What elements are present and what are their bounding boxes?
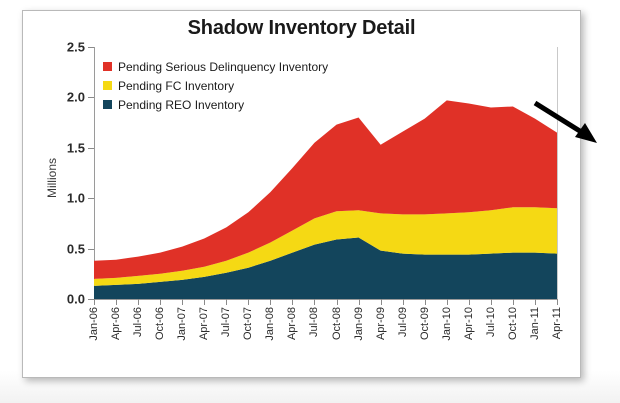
x-tick-label: Jul-10	[485, 307, 497, 337]
x-tick-mark	[314, 299, 315, 305]
x-tick-label: Jan-10	[441, 307, 453, 341]
legend-swatch-icon	[103, 62, 112, 71]
plot-right-edge	[557, 47, 558, 299]
x-tick-label: Apr-11	[551, 307, 563, 339]
x-axis-line	[94, 299, 558, 300]
x-tick-mark	[226, 299, 227, 305]
x-tick-mark	[403, 299, 404, 305]
x-tick-mark	[447, 299, 448, 305]
y-tick-mark	[88, 97, 94, 98]
x-tick-label: Oct-10	[507, 307, 519, 340]
chart-legend: Pending Serious Delinquency InventoryPen…	[103, 59, 328, 116]
y-tick-label: 0.5	[45, 241, 85, 256]
x-tick-label: Jul-08	[308, 307, 320, 337]
x-tick-label: Jul-06	[132, 307, 144, 337]
x-tick-mark	[359, 299, 360, 305]
x-tick-mark	[513, 299, 514, 305]
y-tick-label: 1.0	[45, 191, 85, 206]
y-tick-label: 0.0	[45, 292, 85, 307]
x-tick-label: Apr-07	[198, 307, 210, 340]
x-tick-mark	[248, 299, 249, 305]
x-tick-mark	[292, 299, 293, 305]
x-tick-label: Apr-06	[110, 307, 122, 340]
y-tick-mark	[88, 148, 94, 149]
legend-label: Pending REO Inventory	[118, 98, 244, 112]
x-tick-label: Jan-11	[529, 307, 541, 340]
x-tick-label: Apr-10	[463, 307, 475, 340]
x-tick-mark	[160, 299, 161, 305]
x-tick-mark	[557, 299, 558, 305]
legend-item: Pending REO Inventory	[103, 97, 328, 112]
x-tick-mark	[337, 299, 338, 305]
x-tick-mark	[425, 299, 426, 305]
x-tick-mark	[116, 299, 117, 305]
legend-swatch-icon	[103, 100, 112, 109]
y-tick-label: 2.5	[45, 40, 85, 55]
y-tick-mark	[88, 47, 94, 48]
x-tick-mark	[469, 299, 470, 305]
x-tick-mark	[94, 299, 95, 305]
x-tick-label: Oct-08	[331, 307, 343, 340]
x-tick-mark	[381, 299, 382, 305]
x-tick-label: Oct-07	[242, 307, 254, 340]
y-tick-mark	[88, 198, 94, 199]
legend-item: Pending FC Inventory	[103, 78, 328, 93]
x-tick-label: Oct-06	[154, 307, 166, 340]
x-tick-label: Jul-09	[397, 307, 409, 337]
x-tick-label: Jan-09	[353, 307, 365, 341]
legend-label: Pending Serious Delinquency Inventory	[118, 60, 328, 74]
x-tick-mark	[182, 299, 183, 305]
x-tick-mark	[270, 299, 271, 305]
y-tick-label: 1.5	[45, 140, 85, 155]
legend-swatch-icon	[103, 81, 112, 90]
y-tick-label: 2.0	[45, 90, 85, 105]
x-tick-mark	[204, 299, 205, 305]
x-tick-label: Apr-08	[286, 307, 298, 340]
legend-item: Pending Serious Delinquency Inventory	[103, 59, 328, 74]
x-tick-label: Apr-09	[375, 307, 387, 340]
y-axis-tick-labels: 0.00.51.01.52.02.5	[45, 11, 85, 377]
x-tick-label: Oct-09	[419, 307, 431, 340]
y-tick-mark	[88, 299, 94, 300]
x-tick-mark	[535, 299, 536, 305]
chart-title: Shadow Inventory Detail	[23, 17, 580, 40]
legend-label: Pending FC Inventory	[118, 79, 234, 93]
x-tick-label: Jul-07	[220, 307, 232, 337]
x-tick-mark	[138, 299, 139, 305]
x-tick-label: Jan-08	[264, 307, 276, 341]
x-tick-mark	[491, 299, 492, 305]
y-tick-mark	[88, 249, 94, 250]
chart-frame: Shadow Inventory Detail Millions 0.00.51…	[22, 10, 581, 378]
x-tick-label: Jan-07	[176, 307, 188, 341]
x-tick-label: Jan-06	[88, 307, 100, 341]
